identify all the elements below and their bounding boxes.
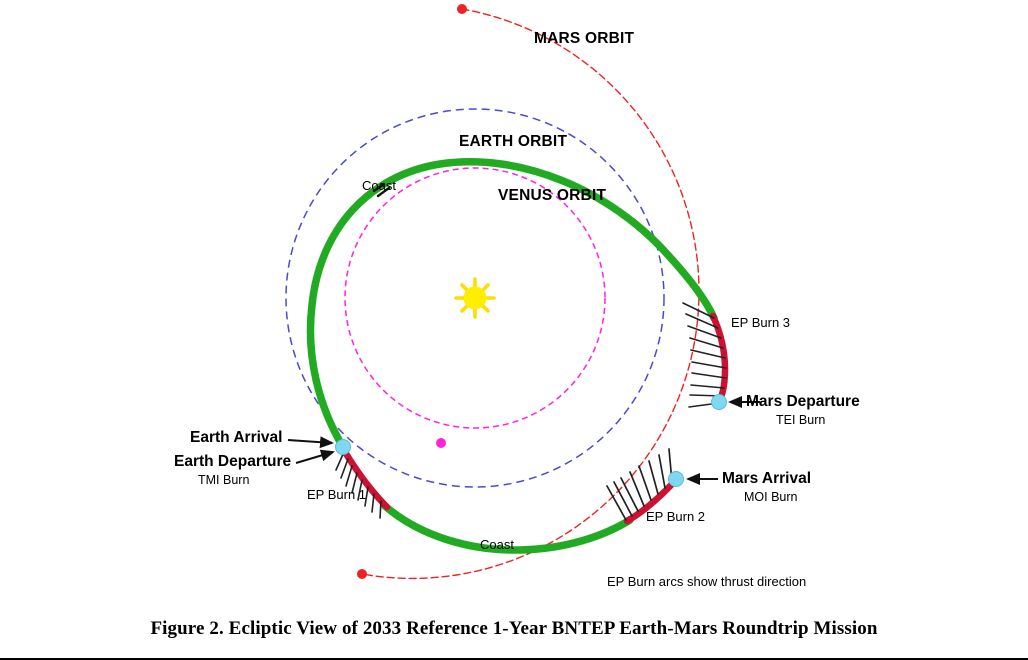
figure-caption: Figure 2. Ecliptic View of 2033 Referenc… — [0, 618, 1028, 640]
ep-burn-3-label: EP Burn 3 — [731, 316, 790, 330]
mars-orbit-endpoint-bottom — [357, 569, 367, 579]
venus-body-marker — [436, 438, 446, 448]
mars-orbit-label: MARS ORBIT — [534, 31, 634, 47]
diagram-canvas: MARS ORBIT EARTH ORBIT VENUS ORBIT Coast… — [0, 0, 1028, 608]
earth-arrival-label: Earth Arrival — [190, 430, 282, 446]
earth-arrival-leader — [288, 440, 332, 443]
node-marker-earth[interactable] — [336, 440, 351, 455]
mars-orbit-endpoint-top — [457, 4, 467, 14]
orbit-diagram-svg — [0, 0, 1028, 608]
ep-burn-1-label: EP Burn 1 — [307, 488, 366, 502]
caption-bar: Figure 2. Ecliptic View of 2033 Referenc… — [0, 608, 1028, 660]
ep-burn-2-label: EP Burn 2 — [646, 510, 705, 524]
mars-arrival-sub-label: MOI Burn — [744, 491, 798, 504]
coast-upper-label: Coast — [362, 179, 396, 193]
ep-burn-3-arc — [713, 316, 725, 402]
thrust-direction-note: EP Burn arcs show thrust direction — [607, 575, 806, 589]
coast-lower-label: Coast — [480, 538, 514, 552]
venus-orbit-label: VENUS ORBIT — [498, 188, 606, 204]
ep-burn-1-thrust-ticks — [336, 452, 381, 518]
sun-icon — [456, 279, 494, 317]
node-marker-mars-arrival[interactable] — [669, 472, 684, 487]
earth-departure-label: Earth Departure — [174, 454, 291, 470]
mars-departure-label: Mars Departure — [746, 394, 860, 410]
earth-orbit-label: EARTH ORBIT — [459, 134, 567, 150]
earth-departure-sub-label: TMI Burn — [198, 474, 249, 487]
trajectory-coast-outbound — [310, 162, 714, 447]
mars-departure-sub-label: TEI Burn — [776, 414, 825, 427]
node-marker-mars-departure[interactable] — [712, 395, 727, 410]
mars-arrival-label: Mars Arrival — [722, 471, 811, 487]
figure-page: MARS ORBIT EARTH ORBIT VENUS ORBIT Coast… — [0, 0, 1028, 660]
earth-departure-leader — [296, 452, 333, 463]
